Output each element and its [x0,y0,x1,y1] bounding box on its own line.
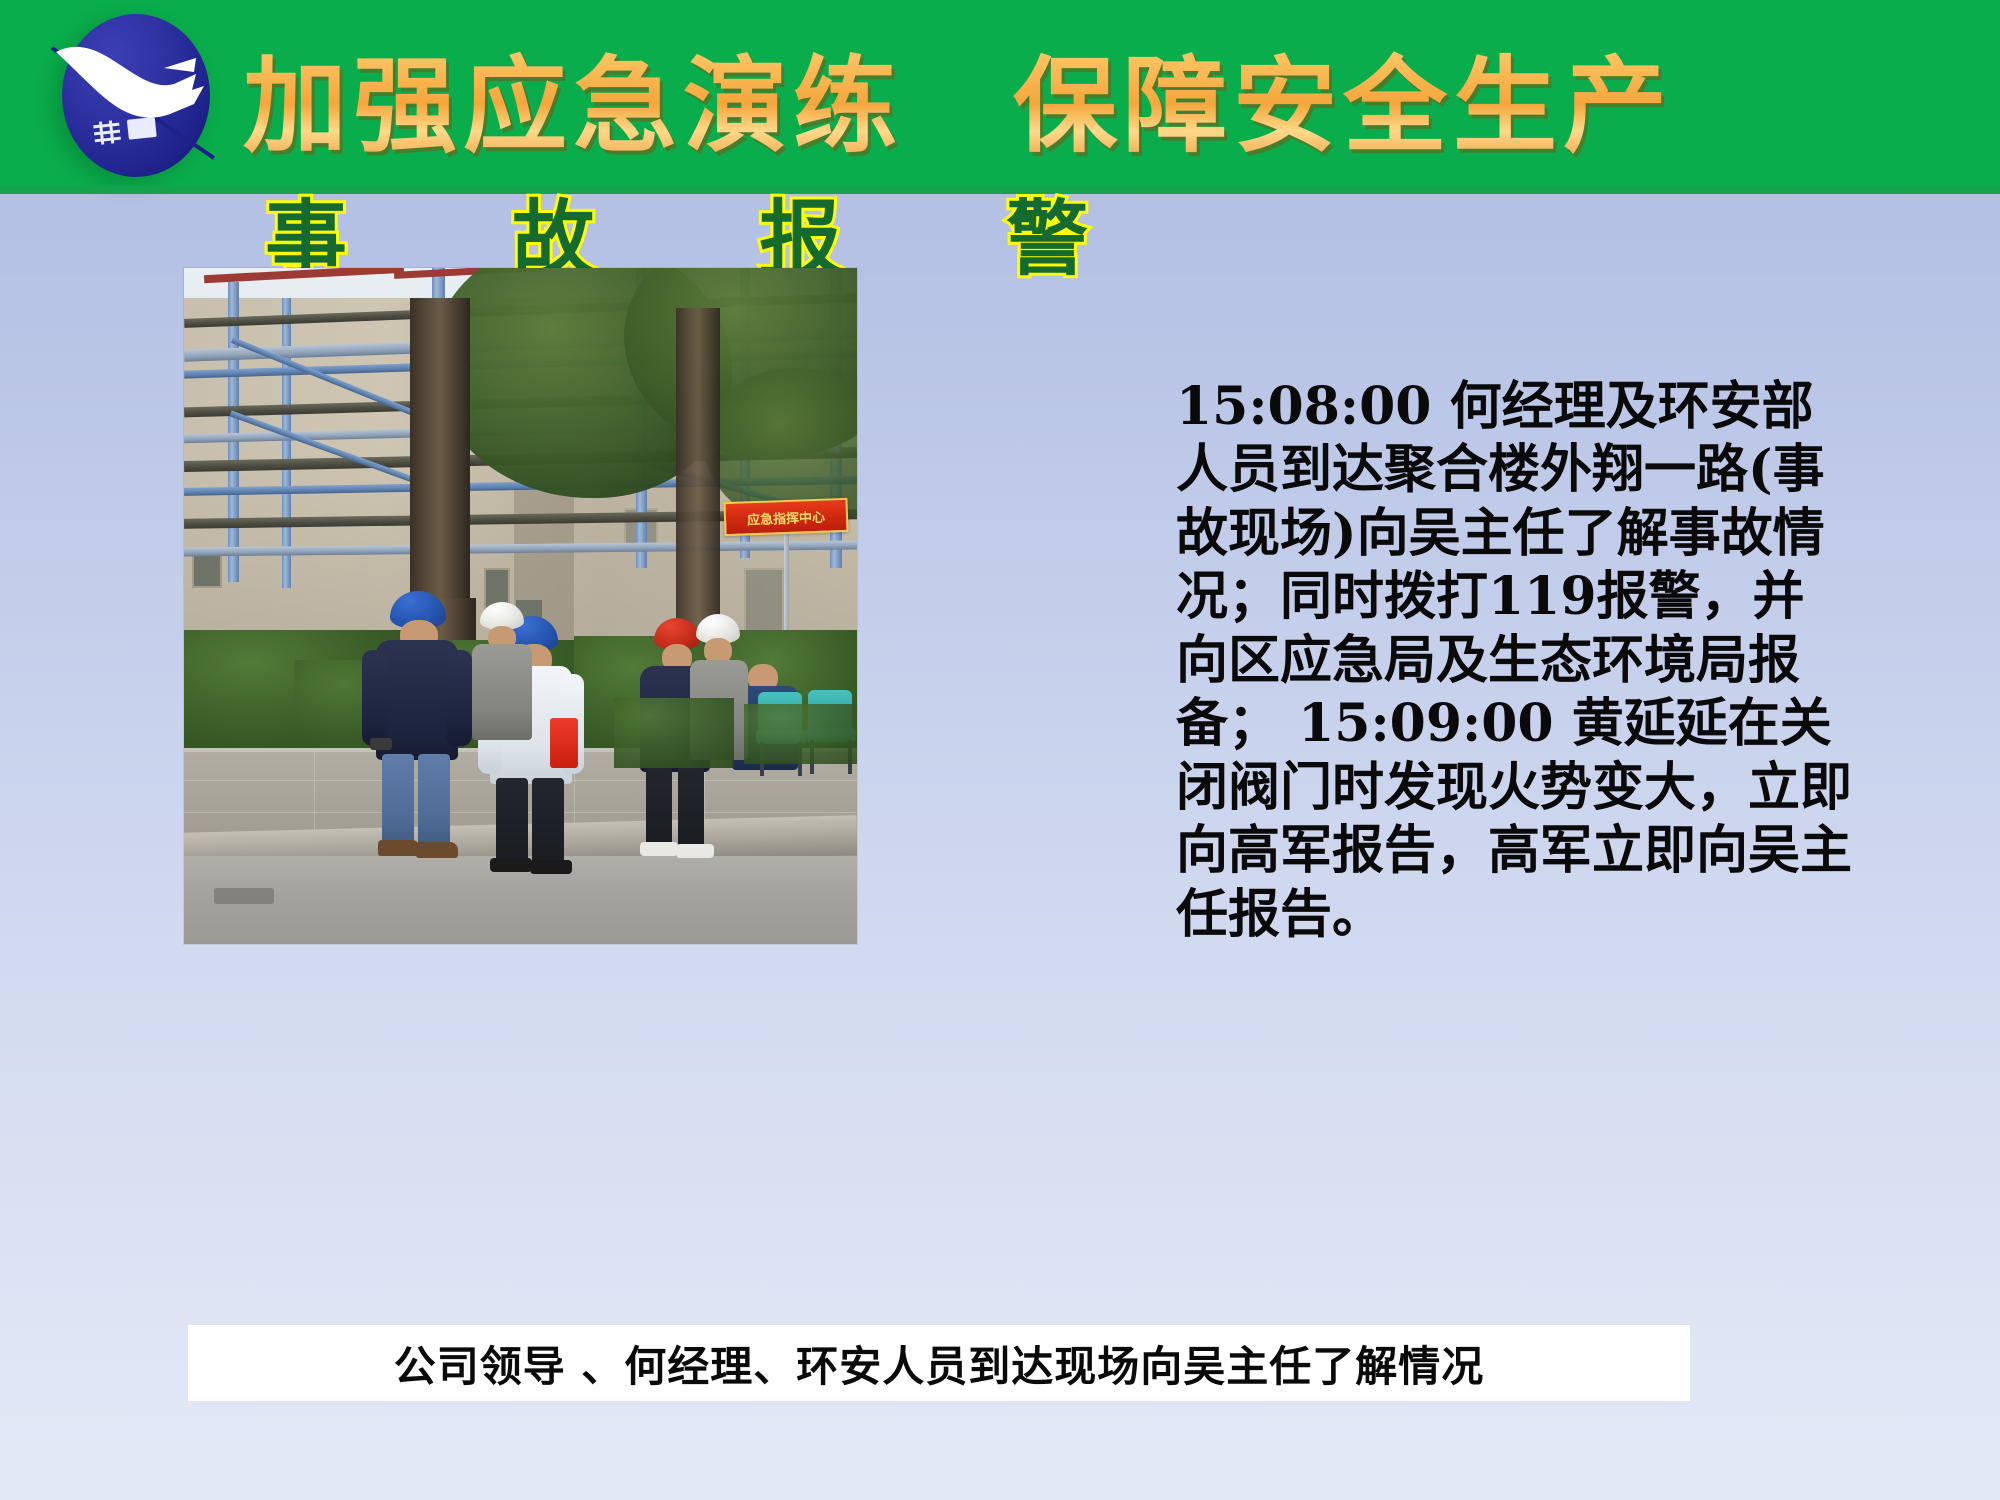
photo-tree-trunk [676,308,720,638]
scene-photo: 应急指挥中心 [184,268,857,944]
banner-title: 加强应急演练 保障安全生产 [243,16,1983,176]
photo-person-shoe [640,842,678,856]
slide-canvas: 加强应急演练 保障安全生产 事 故 报 警 [0,0,2000,1500]
photo-person-hand-item [370,738,392,750]
photo-person-leg [418,754,450,848]
header-banner: 加强应急演练 保障安全生产 [0,0,2000,194]
photo-red-object [550,718,578,768]
company-logo [44,8,224,184]
photo-person-shoe [490,858,532,872]
photo-person-leg [532,778,564,868]
bird-swoosh-icon [44,8,224,184]
photo-person-leg [646,766,672,852]
photo-person-torso [472,644,532,740]
photo-person-shoe [378,840,420,856]
photo-person-leg [382,754,414,848]
caption-text: 公司领导 、何经理、环安人员到达现场向吴主任了解情况 [394,1333,1485,1394]
photo-person-arm [362,650,388,746]
photo-person-arm [446,650,472,746]
photo-drain [214,888,274,904]
incident-report-text: 15:08:00 何经理及环安部人员到达聚合楼外翔一路(事故现场)向吴主任了解事… [1176,375,1856,946]
photo-window [744,568,784,638]
photo-person-shoe [416,842,458,858]
photo-hedge [744,704,857,764]
photo-hedge [614,698,734,768]
caption-bar: 公司领导 、何经理、环安人员到达现场向吴主任了解情况 [188,1325,1690,1401]
photo-person-leg [496,778,528,868]
photo-person-shoe [530,860,572,874]
photo-person-shoe [676,844,714,858]
photo-rack-column [282,298,291,588]
emergency-command-sign: 应急指挥中心 [723,498,848,536]
photo-person-leg [678,766,704,852]
